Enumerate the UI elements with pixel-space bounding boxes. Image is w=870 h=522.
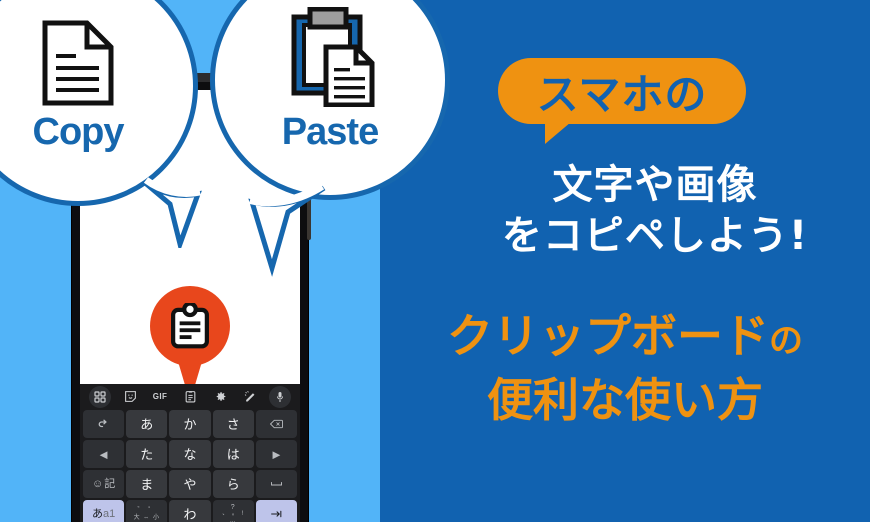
poster-canvas: GIF [0, 0, 870, 522]
dakuten-small: 大 ⇔ 小 [134, 515, 160, 521]
symbol-kanji: 記 [104, 479, 115, 490]
mode-latin-digit: a1 [103, 508, 115, 520]
subhead-main: クリップボード [447, 309, 769, 363]
key-sa[interactable]: さ [213, 410, 254, 438]
key-ha[interactable]: は [213, 440, 254, 468]
cursor-right-key[interactable]: ► [256, 440, 297, 468]
emoji-symbol-key[interactable]: ☺記 [83, 470, 124, 498]
keyboard-row: あ か さ [83, 410, 297, 438]
microphone-icon[interactable] [269, 386, 291, 408]
key-na[interactable]: な [169, 440, 210, 468]
keyboard-row: あa1 ゛ ゜ 大 ⇔ 小 わ ? [83, 500, 297, 522]
paste-bubble-content: Paste [215, 0, 445, 195]
gear-icon[interactable] [209, 386, 231, 408]
paste-bubble-label: Paste [282, 111, 378, 154]
subhead-suffix: の [769, 321, 803, 361]
dakuten-key[interactable]: ゛ ゜ 大 ⇔ 小 [126, 500, 167, 522]
key-wa[interactable]: わ [169, 500, 210, 522]
redo-key[interactable] [83, 410, 124, 438]
qr-grid-icon[interactable] [89, 386, 111, 408]
headline-line-2: をコピペしよう! [440, 203, 870, 261]
input-mode-key[interactable]: あa1 [83, 500, 124, 522]
pill-tail [545, 122, 571, 144]
enter-key[interactable] [256, 500, 297, 522]
keyboard-key-rows: あ か さ ◄ た な [83, 409, 297, 522]
keyboard-row: ◄ た な は ► [83, 440, 297, 468]
keyboard-toolbar: GIF [83, 384, 297, 409]
punctuation-label: ? 、 。 ! … [222, 504, 244, 522]
headline-line-1: 文字や画像 [440, 152, 870, 210]
clipboard-highlight-badge [150, 286, 230, 366]
key-ra[interactable]: ら [213, 470, 254, 498]
handwriting-icon[interactable] [239, 386, 261, 408]
subhead-line-2: 便利な使い方 [380, 364, 870, 430]
key-ta[interactable]: た [126, 440, 167, 468]
document-icon [41, 19, 115, 107]
mode-kana: あ [92, 508, 103, 520]
input-mode-label: あa1 [92, 509, 115, 520]
onscreen-keyboard: GIF [80, 384, 300, 522]
copy-bubble-label: Copy [33, 111, 124, 154]
key-a[interactable]: あ [126, 410, 167, 438]
key-ma[interactable]: ま [126, 470, 167, 498]
sticker-icon[interactable] [119, 386, 141, 408]
backspace-key[interactable] [256, 410, 297, 438]
gif-icon[interactable]: GIF [149, 386, 171, 408]
punctuation-top: ? [231, 504, 236, 511]
clipboard-paste-icon [282, 7, 378, 107]
keyboard-row: ☺記 ま や ら [83, 470, 297, 498]
emoji-symbol-label: ☺記 [92, 479, 115, 490]
subhead-line-1: クリップボードの [380, 300, 870, 366]
smiley-icon: ☺ [92, 479, 103, 490]
dakuten-label: ゛ ゜ 大 ⇔ 小 [134, 507, 160, 521]
cursor-left-key[interactable]: ◄ [83, 440, 124, 468]
key-ka[interactable]: か [169, 410, 210, 438]
clipboard-icon[interactable] [179, 386, 201, 408]
punctuation-bottom: … [230, 518, 237, 522]
pill-label: スマホの [537, 61, 708, 122]
pill-callout: スマホの [498, 58, 746, 124]
dakuten-marks: ゛ ゜ [137, 507, 156, 514]
clipboard-icon [167, 303, 213, 349]
key-ya[interactable]: や [169, 470, 210, 498]
paste-speech-bubble: Paste [210, 0, 450, 200]
space-key[interactable] [256, 470, 297, 498]
paste-bubble-tail [228, 172, 338, 278]
copy-bubble-tail [140, 170, 220, 248]
punctuation-key[interactable]: ? 、 。 ! … [213, 500, 254, 522]
